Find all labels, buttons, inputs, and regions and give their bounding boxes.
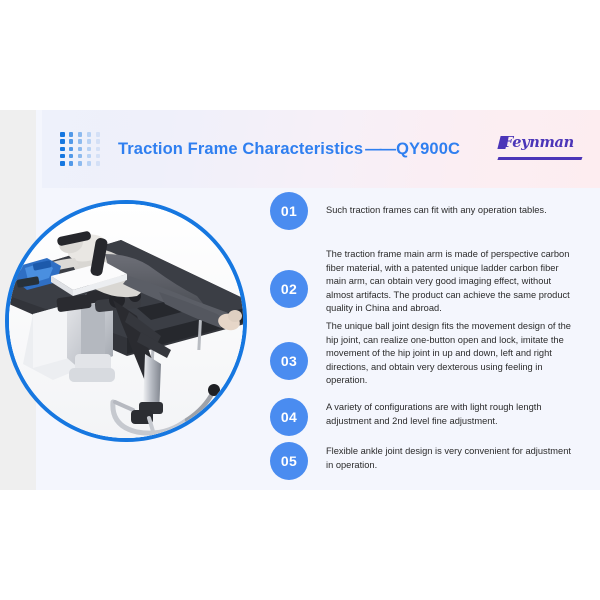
feature-item-03: 03 The unique ball joint design fits the… (270, 320, 576, 388)
header-band: Traction Frame Characteristics——QY900C F… (42, 110, 600, 188)
feature-item-01: 01 Such traction frames can fit with any… (308, 192, 576, 230)
feature-number-badge: 04 (270, 398, 308, 436)
brand-logo: Feynman (498, 134, 584, 164)
logo-underline (498, 157, 583, 160)
operating-table-illustration (9, 204, 243, 438)
feature-text: The unique ball joint design fits the mo… (326, 320, 576, 388)
page-title: Traction Frame Characteristics——QY900C (118, 141, 460, 158)
feature-number-badge: 05 (270, 442, 308, 480)
logo-text: Feynman (503, 136, 574, 151)
feature-number-badge: 01 (270, 192, 308, 230)
title-dash: —— (363, 140, 396, 158)
feature-text: A variety of configurations are with lig… (326, 401, 576, 428)
header-inner: Traction Frame Characteristics——QY900C F… (42, 110, 600, 188)
feature-text: The traction frame main arm is made of p… (326, 248, 576, 316)
feature-number-badge: 03 (270, 342, 308, 380)
product-photo-image (9, 204, 243, 438)
feature-item-02: 02 The traction frame main arm is made o… (270, 248, 576, 316)
content-card: Traction Frame Characteristics——QY900C F… (36, 110, 600, 490)
feature-item-05: 05 Flexible ankle joint design is very c… (270, 436, 576, 480)
feature-item-04: 04 A variety of configurations are with … (270, 392, 576, 436)
page-title-model: QY900C (396, 140, 460, 158)
feature-number-badge: 02 (270, 270, 308, 308)
product-photo (5, 200, 247, 442)
feature-list: 01 Such traction frames can fit with any… (270, 192, 594, 484)
feature-text: Flexible ankle joint design is very conv… (326, 445, 576, 472)
page-title-main: Traction Frame Characteristics (118, 140, 363, 158)
feature-text: Such traction frames can fit with any op… (326, 204, 576, 218)
dot-grid-icon (60, 132, 102, 166)
